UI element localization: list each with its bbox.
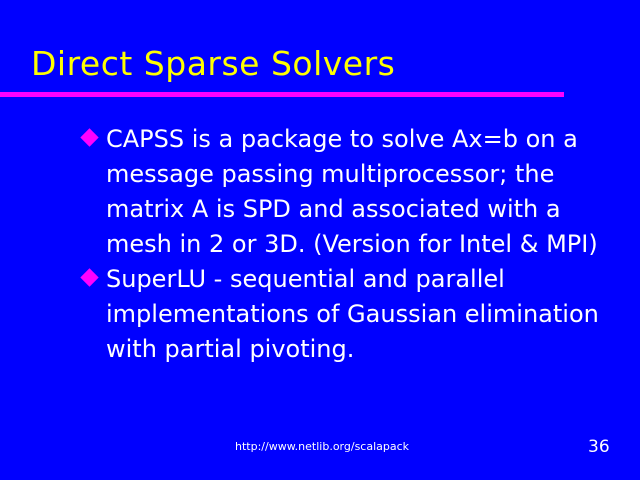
- list-item-line: SuperLU - sequential and parallel: [106, 262, 612, 297]
- slide-canvas: Direct Sparse Solvers CAPSS is a package…: [0, 0, 640, 480]
- title-underline-rule: [0, 92, 564, 97]
- list-item-line: implementations of Gaussian elimination: [106, 297, 612, 332]
- list-item-line: CAPSS is a package to solve Ax=b on a: [106, 122, 612, 157]
- list-item-line: mesh in 2 or 3D. (Version for Intel & MP…: [106, 227, 612, 262]
- slide-number: 36: [588, 437, 610, 457]
- footer-url[interactable]: http://www.netlib.org/scalapack: [235, 440, 409, 454]
- list-item: CAPSS is a package to solve Ax=b on a me…: [82, 122, 612, 262]
- diamond-bullet-icon: [80, 268, 98, 286]
- list-item: SuperLU - sequential and parallel implem…: [82, 262, 612, 367]
- list-item-line: matrix A is SPD and associated with a: [106, 192, 612, 227]
- diamond-bullet-icon: [80, 128, 98, 146]
- bullet-list: CAPSS is a package to solve Ax=b on a me…: [82, 122, 612, 367]
- list-item-text: SuperLU - sequential and parallel implem…: [106, 262, 612, 367]
- list-item-text: CAPSS is a package to solve Ax=b on a me…: [106, 122, 612, 262]
- page-title: Direct Sparse Solvers: [31, 44, 395, 84]
- list-item-line: message passing multiprocessor; the: [106, 157, 612, 192]
- list-item-line: with partial pivoting.: [106, 332, 612, 367]
